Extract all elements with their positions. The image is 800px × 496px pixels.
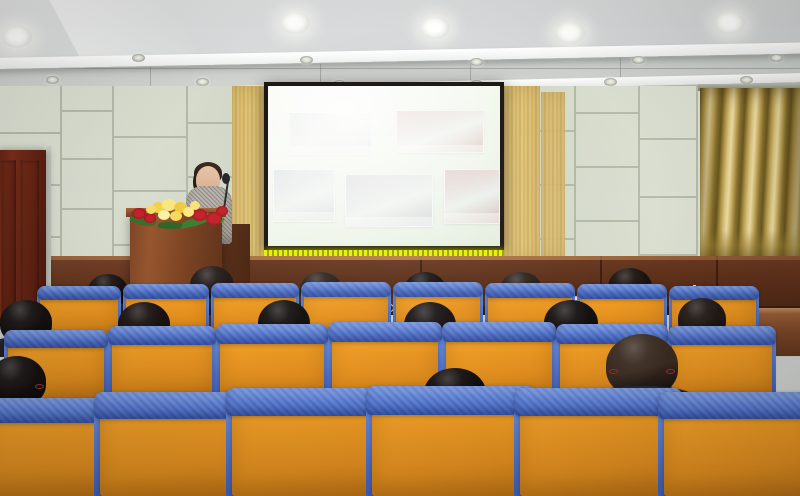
- auditorium-seat[interactable]: [232, 388, 384, 496]
- auditorium-seat[interactable]: [664, 392, 800, 496]
- seat-headrest-cushion: [658, 392, 800, 419]
- head-woman-red-glasses: [606, 334, 678, 396]
- seat-headrest-cushion: [514, 388, 682, 416]
- auditorium-photo: [0, 0, 800, 496]
- audience-row-front: [0, 0, 800, 496]
- glasses-icon: [609, 369, 618, 374]
- glasses-icon: [666, 369, 675, 374]
- auditorium-seat[interactable]: [372, 386, 530, 496]
- auditorium-seat[interactable]: [520, 388, 676, 496]
- glasses-icon: [35, 384, 44, 389]
- seat-headrest-cushion: [366, 386, 537, 415]
- seat-headrest-cushion: [94, 392, 247, 419]
- auditorium-seat[interactable]: [100, 392, 242, 496]
